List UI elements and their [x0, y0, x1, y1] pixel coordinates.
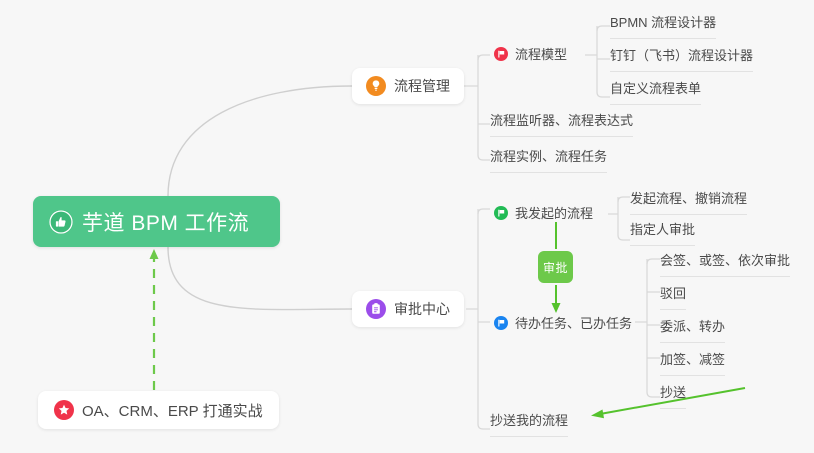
flag-icon — [494, 316, 508, 330]
node-oa-crm-erp-integration[interactable]: OA、CRM、ERP 打通实战 — [38, 391, 279, 429]
root-label: 芋道 BPM 工作流 — [82, 207, 249, 237]
dashed-arrow-to-root — [150, 249, 159, 390]
branch-node-liucheng-guanli[interactable]: 流程管理 — [352, 68, 464, 104]
wire-moxing-to-form — [597, 92, 610, 97]
tag-shenpi-label: 审批 — [543, 259, 568, 276]
mindmap-canvas: 芋道 BPM 工作流 流程管理 审批中心 — [0, 0, 814, 453]
leaf-delegate-transfer[interactable]: 委派、转办 — [660, 316, 725, 343]
item-daiban-yiban-renwu[interactable]: 待办任务、已办任务 — [494, 313, 632, 332]
wire-daiban-to-countersign — [647, 259, 660, 264]
wire-sz-to-ccmyflow — [478, 424, 490, 429]
branch-label-liucheng-guanli: 流程管理 — [394, 76, 450, 96]
label-oa-crm-erp-integration: OA、CRM、ERP 打通实战 — [82, 400, 263, 421]
wire-moxing-to-bpmn — [597, 26, 610, 31]
item-liucheng-moxing[interactable]: 流程模型 — [494, 44, 567, 63]
label-wofaqi-de-liucheng: 我发起的流程 — [515, 203, 593, 222]
leaf-reject[interactable]: 驳回 — [660, 283, 686, 310]
wire-root-to-liucheng-guanli — [168, 86, 352, 196]
label-liucheng-moxing: 流程模型 — [515, 44, 567, 63]
wire-lg-to-moxing — [478, 55, 490, 60]
wire-daiban-to-cc — [647, 392, 660, 397]
wire-wofaqi-to-start — [618, 197, 630, 202]
branch-label-shenpi-zhongxin: 审批中心 — [394, 299, 450, 319]
lightbulb-pin-icon — [366, 76, 386, 96]
leaf-instance-task[interactable]: 流程实例、流程任务 — [490, 146, 607, 173]
star-icon — [54, 400, 74, 420]
leaf-listener-expression[interactable]: 流程监听器、流程表达式 — [490, 110, 633, 137]
leaf-dingtalk-designer[interactable]: 钉钉（飞书）流程设计器 — [610, 45, 753, 72]
leaf-add-remove-sign[interactable]: 加签、减签 — [660, 349, 725, 376]
wire-sz-to-wofaqi — [478, 209, 490, 214]
leaf-bpmn-designer[interactable]: BPMN 流程设计器 — [610, 12, 716, 39]
leaf-cc-my-flow[interactable]: 抄送我的流程 — [490, 410, 568, 437]
leaf-custom-form[interactable]: 自定义流程表单 — [610, 78, 701, 105]
leaf-cc[interactable]: 抄送 — [660, 382, 686, 409]
thumbs-up-icon — [49, 210, 73, 234]
wire-root-to-shenpi-zhongxin — [168, 247, 352, 310]
leaf-assign-approver[interactable]: 指定人审批 — [630, 219, 695, 246]
tag-shenpi[interactable]: 审批 — [538, 251, 573, 283]
clipboard-icon — [366, 299, 386, 319]
leaf-countersign[interactable]: 会签、或签、依次审批 — [660, 250, 790, 277]
flag-icon — [494, 206, 508, 220]
item-wofaqi-de-liucheng[interactable]: 我发起的流程 — [494, 203, 593, 222]
root-node[interactable]: 芋道 BPM 工作流 — [33, 196, 280, 247]
branch-node-shenpi-zhongxin[interactable]: 审批中心 — [352, 291, 464, 327]
leaf-start-cancel-flow[interactable]: 发起流程、撤销流程 — [630, 188, 747, 215]
flag-icon — [494, 47, 508, 61]
wire-lg-to-instance — [478, 155, 490, 160]
label-daiban-yiban-renwu: 待办任务、已办任务 — [515, 313, 632, 332]
wire-wofaqi-to-assign — [618, 235, 630, 240]
